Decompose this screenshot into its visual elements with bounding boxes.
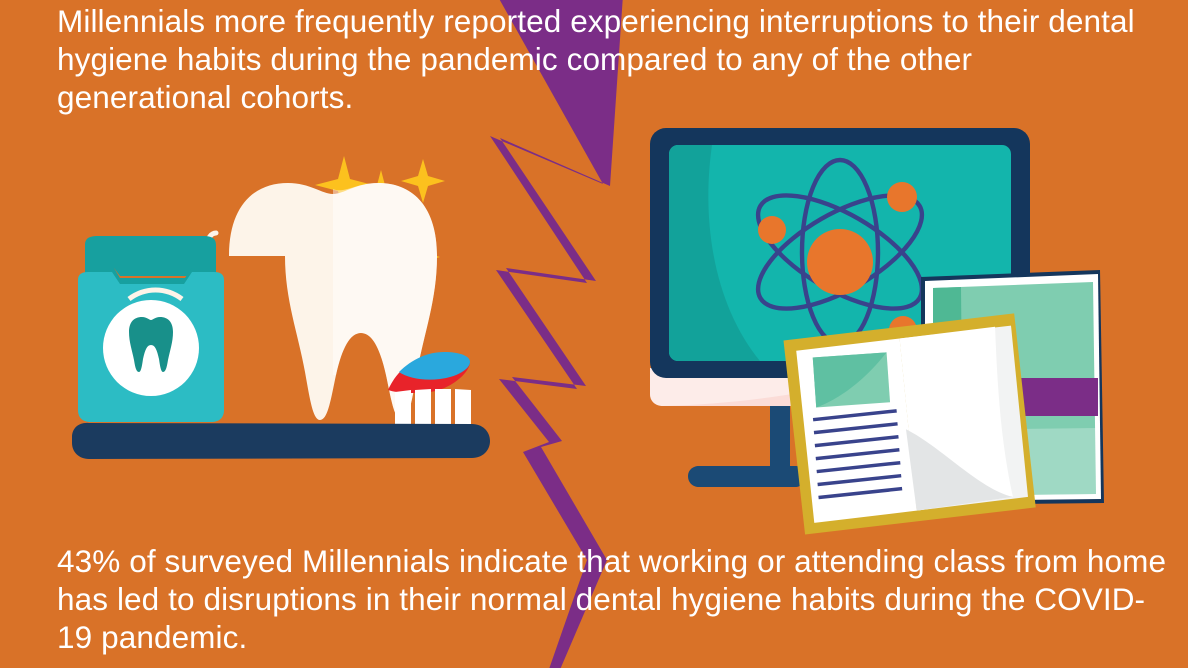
headline-text: Millennials more frequently reported exp… — [57, 2, 1147, 116]
stat-text: 43% of surveyed Millennials indicate tha… — [57, 542, 1167, 656]
infographic-panel: Millennials more frequently reported exp… — [0, 0, 1188, 668]
